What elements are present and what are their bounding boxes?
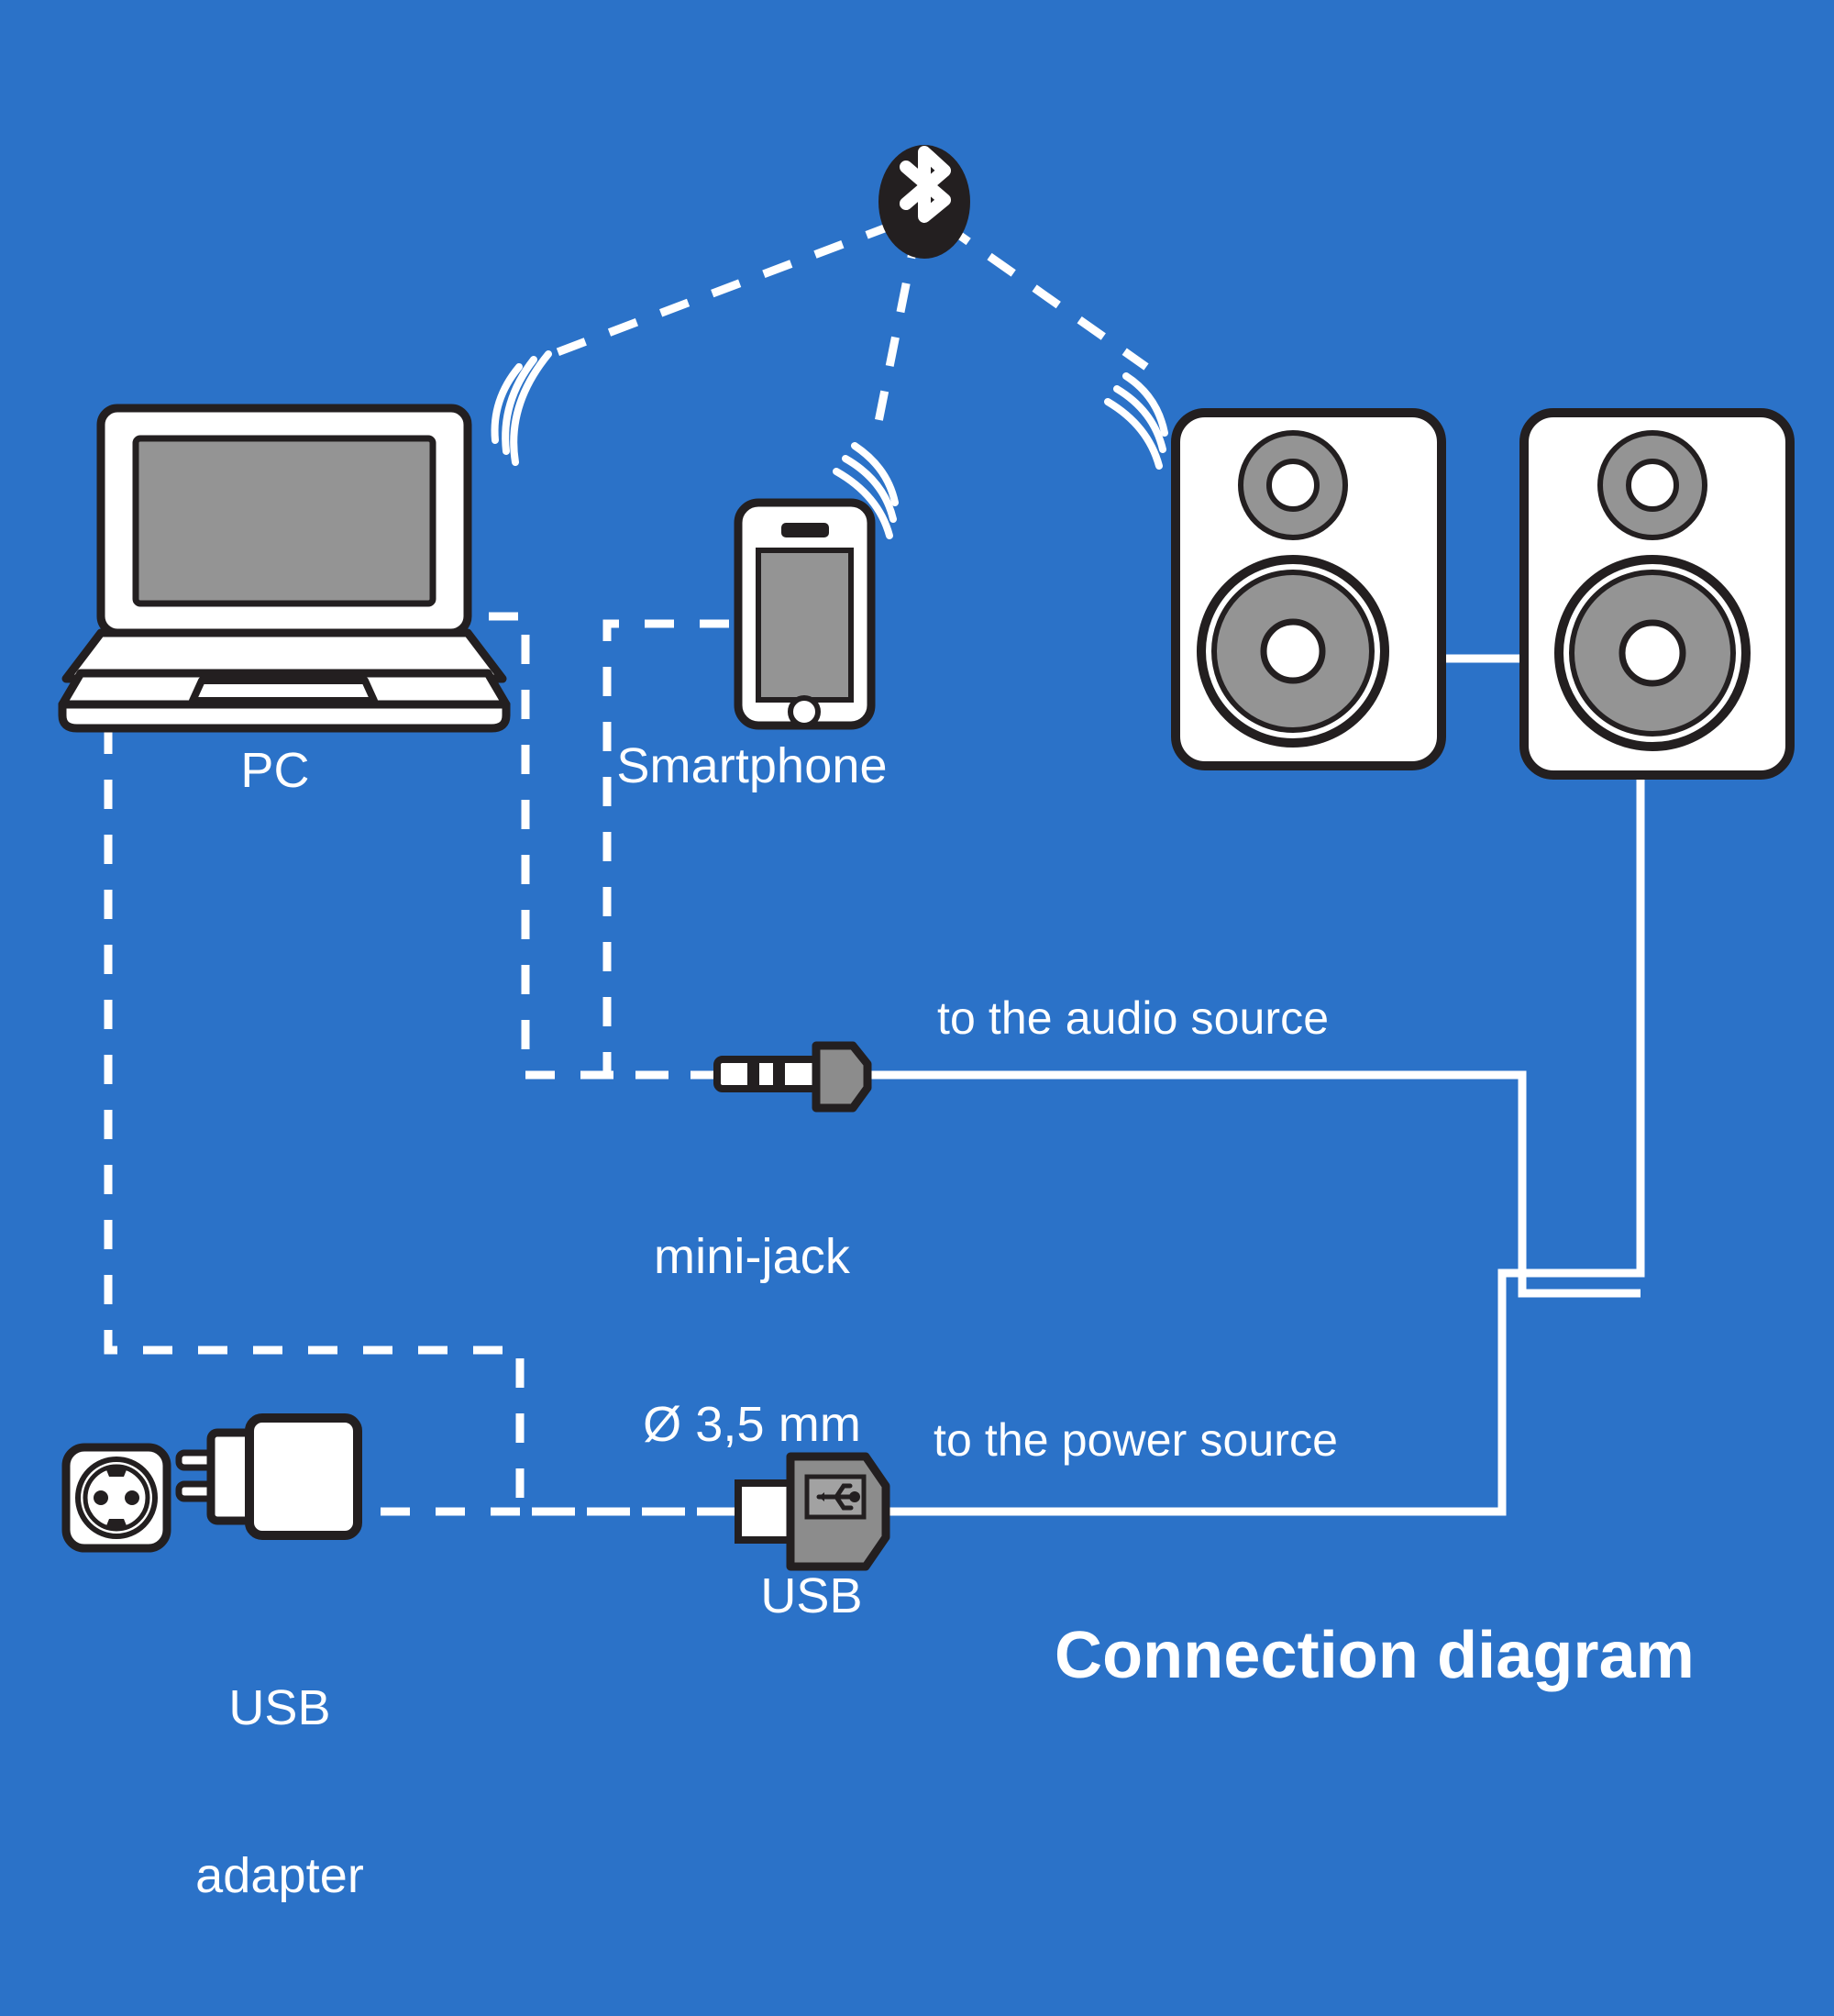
minijack-plug-icon: [717, 1046, 867, 1108]
bt-link-pc: [543, 225, 894, 358]
label-pc: PC: [160, 743, 390, 799]
smartphone-icon: [738, 503, 871, 726]
label-usb-adapter-line2: adapter: [110, 1848, 449, 1904]
wifi-wave-arcs-pc: [495, 354, 548, 462]
label-usb-adapter: USB adapter: [110, 1568, 449, 2016]
connection-diagram-canvas: PC Smartphone mini-jack Ø 3,5 mm to the …: [0, 0, 1834, 1834]
solid-cable-lines: [864, 659, 1641, 1512]
bt-link-smartphone: [876, 229, 917, 436]
label-minijack-line2: Ø 3,5 mm: [569, 1397, 935, 1453]
label-minijack: mini-jack Ø 3,5 mm: [569, 1117, 935, 1565]
label-to-the-power-source: to the power source: [934, 1414, 1338, 1467]
speaker-icon: [1524, 413, 1790, 775]
wall-socket-icon: [66, 1447, 167, 1548]
label-smartphone: Smartphone: [550, 738, 954, 794]
minijack-audio-cable: [864, 1075, 1641, 1293]
power-plug-icon: [179, 1418, 358, 1535]
speaker-icon: [1176, 413, 1442, 766]
smartphone-to-minijack-line: [607, 624, 729, 1075]
label-to-the-audio-source: to the audio source: [937, 992, 1329, 1045]
speaker-power-cable: [885, 776, 1641, 1512]
label-usb-adapter-line1: USB: [110, 1680, 449, 1736]
wifi-wave-arcs-speakers: [1108, 376, 1165, 466]
label-minijack-line1: mini-jack: [569, 1229, 935, 1285]
bluetooth-icon: [878, 145, 970, 259]
laptop-icon: [62, 408, 506, 728]
bt-link-speakers: [945, 225, 1146, 367]
page-title: Connection diagram: [1055, 1619, 1695, 1693]
label-usb: USB: [679, 1568, 945, 1624]
